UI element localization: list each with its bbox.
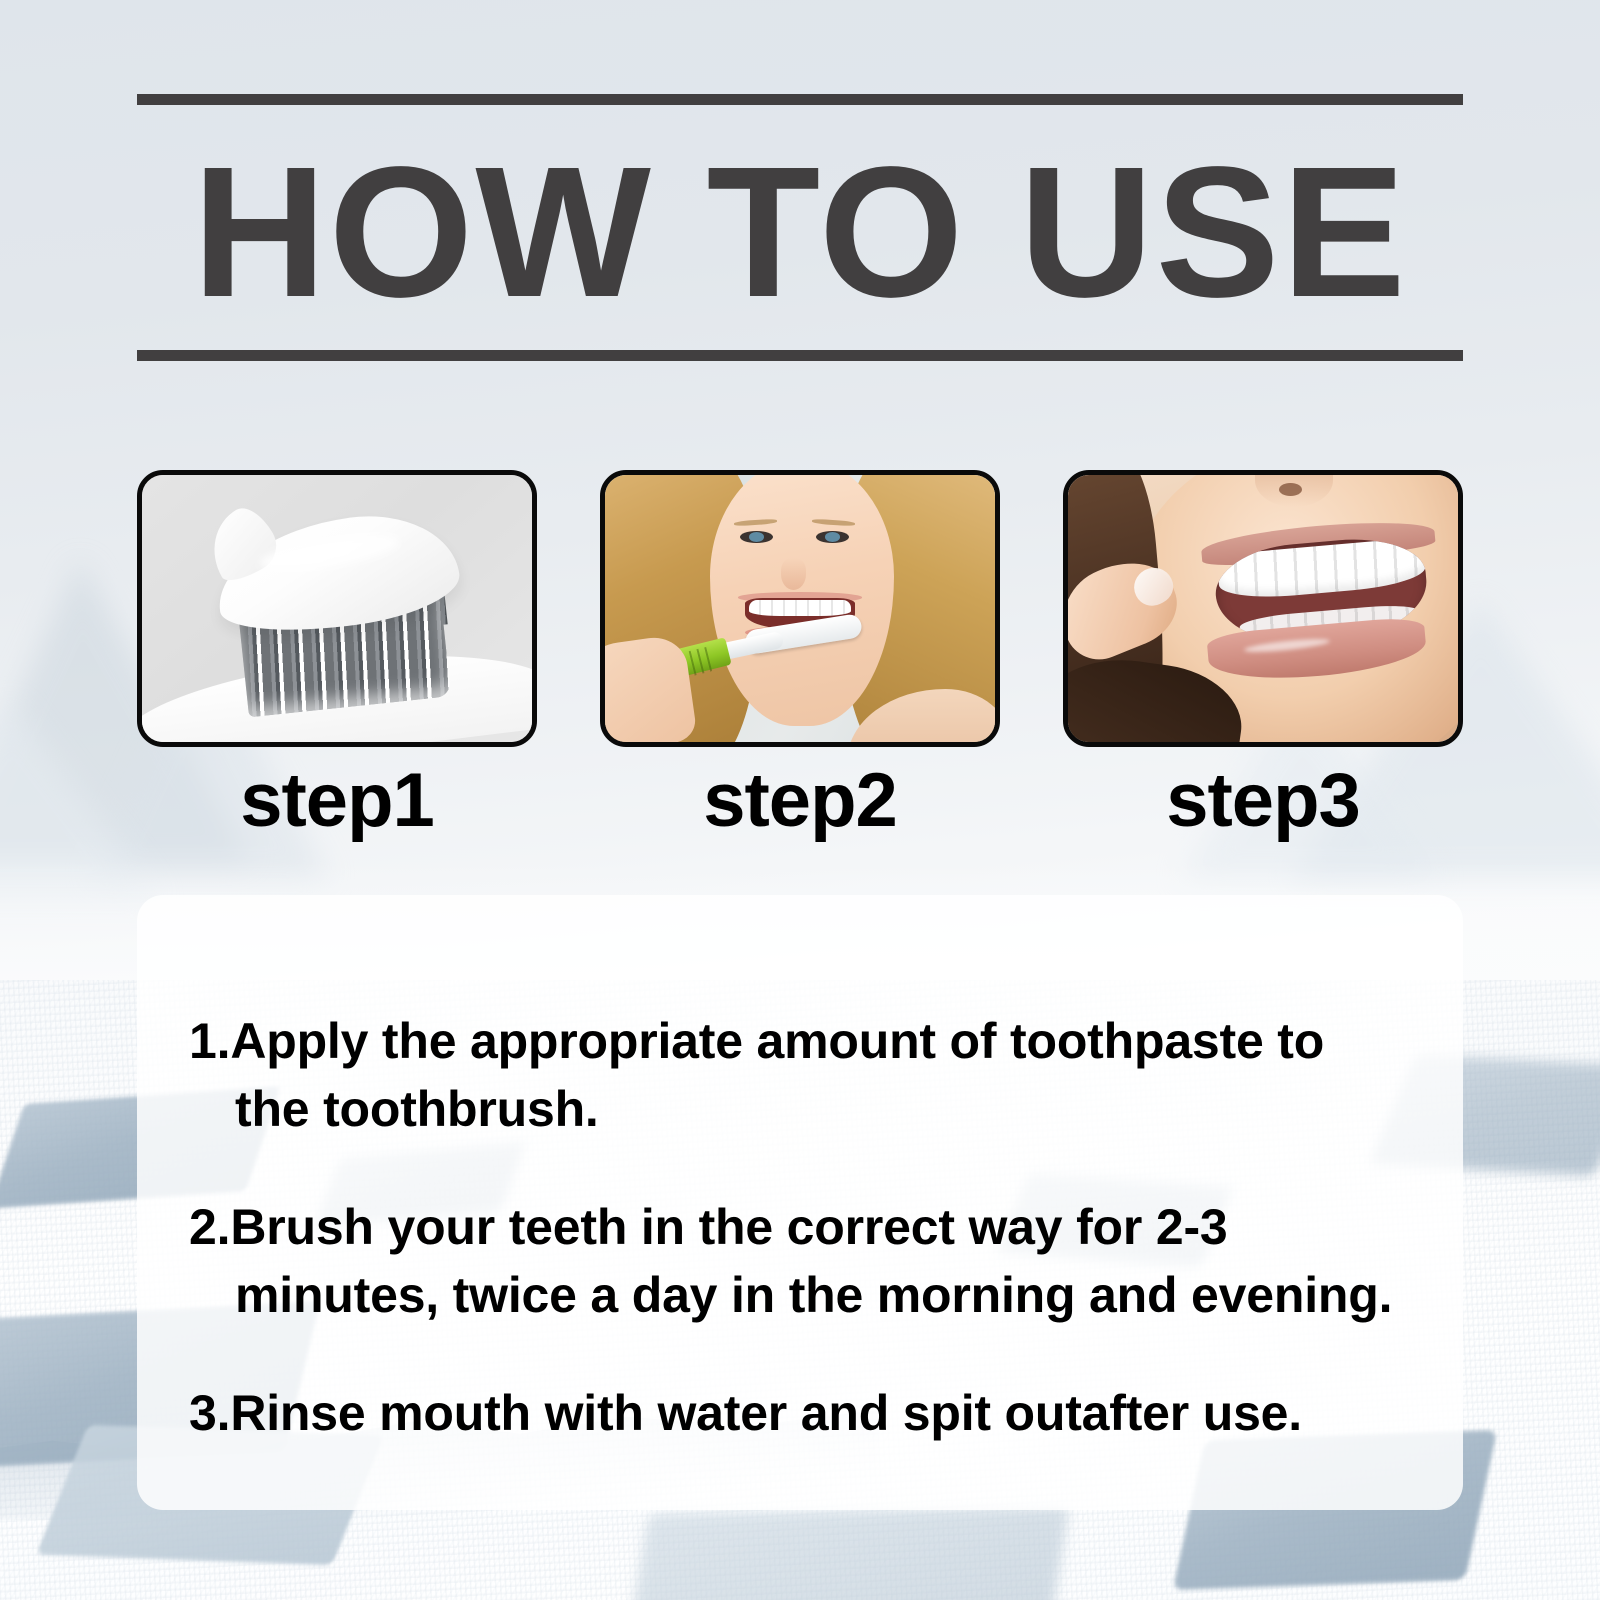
instruction-text-3: Rinse mouth with water and spit outafter… xyxy=(230,1385,1302,1441)
instruction-text-1: Apply the appropriate amount of toothpas… xyxy=(230,1013,1324,1137)
instruction-item-2: 2.Brush your teeth in the correct way fo… xyxy=(189,1193,1403,1329)
instruction-number-3: 3. xyxy=(189,1385,230,1441)
woman-brushing-teeth-photo xyxy=(605,475,995,742)
how-to-use-poster: HOW TO USE step1 xyxy=(0,0,1600,1600)
instruction-item-1: 1.Apply the appropriate amount of toothp… xyxy=(189,1007,1403,1143)
instruction-text-2: Brush your teeth in the correct way for … xyxy=(230,1199,1392,1323)
title-rule-bottom xyxy=(137,350,1463,361)
instruction-number-2: 2. xyxy=(189,1199,230,1255)
step-card-2: step2 xyxy=(600,470,1000,839)
step-label-1: step1 xyxy=(137,763,537,839)
step-card-3: step3 xyxy=(1063,470,1463,839)
step-image-frame-3 xyxy=(1063,470,1463,747)
white-smile-closeup-photo xyxy=(1068,475,1458,742)
instruction-item-3: 3.Rinse mouth with water and spit outaft… xyxy=(189,1379,1403,1447)
background-ice-slab xyxy=(631,1506,1070,1600)
title-rule-top xyxy=(137,94,1463,105)
instruction-number-1: 1. xyxy=(189,1013,230,1069)
page-title: HOW TO USE xyxy=(137,120,1463,345)
step-image-frame-1 xyxy=(137,470,537,747)
step-card-1: step1 xyxy=(137,470,537,839)
instructions-card: 1.Apply the appropriate amount of toothp… xyxy=(137,895,1463,1510)
steps-row: step1 xyxy=(137,470,1463,870)
step-label-3: step3 xyxy=(1063,763,1463,839)
step-image-frame-2 xyxy=(600,470,1000,747)
step-label-2: step2 xyxy=(600,763,1000,839)
toothbrush-with-toothpaste-photo xyxy=(142,475,532,742)
